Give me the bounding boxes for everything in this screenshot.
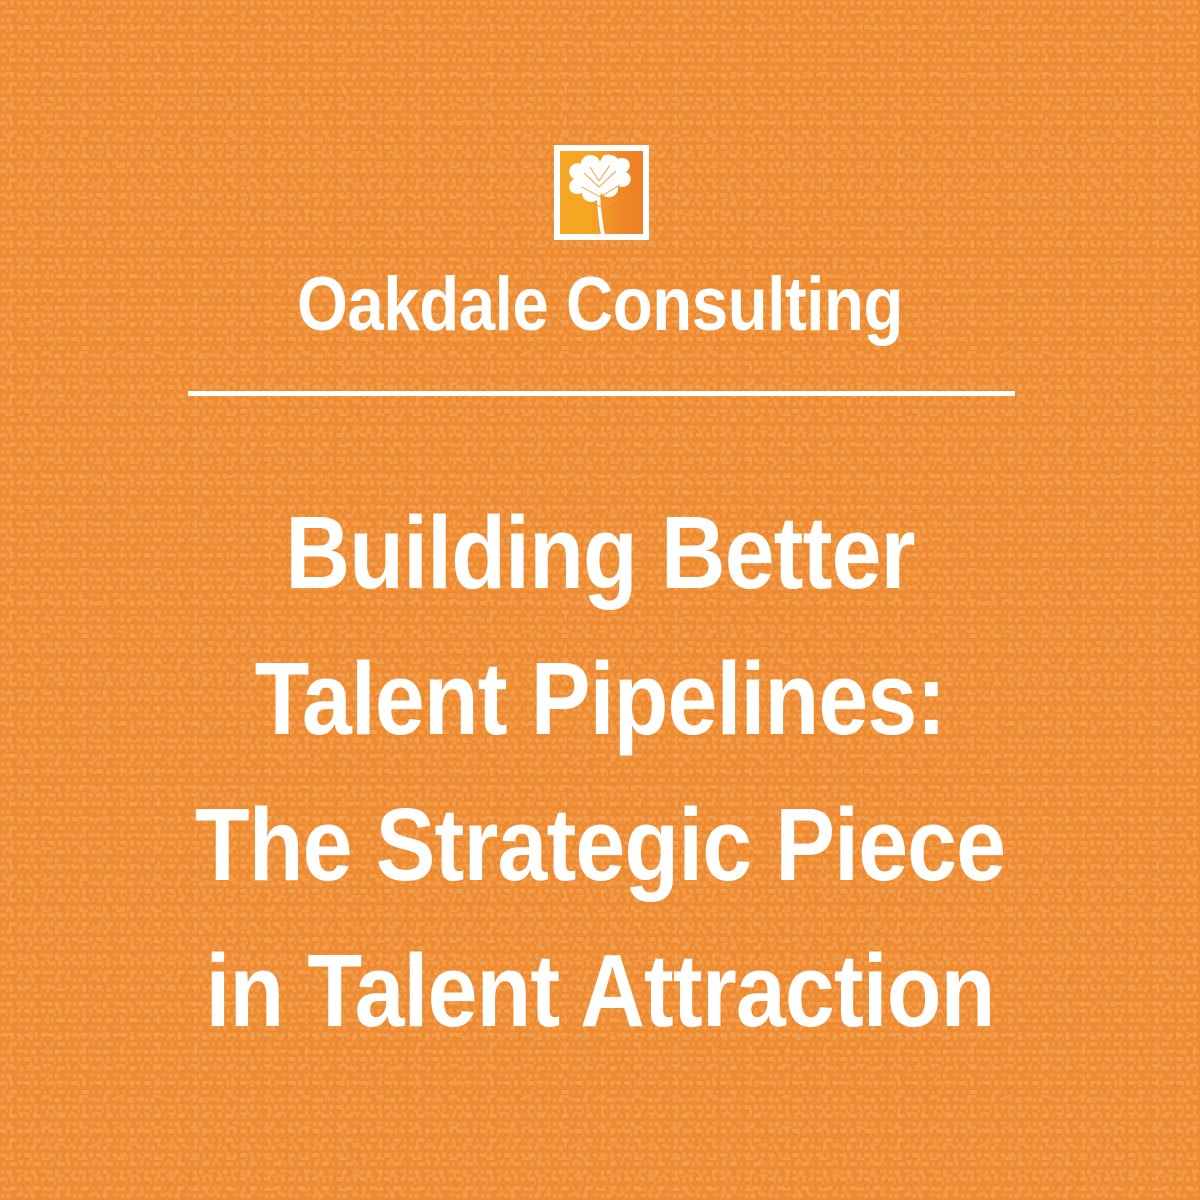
- headline-line-4: in Talent Attraction: [78, 918, 1122, 1064]
- brand-name: Oakdale Consulting: [84, 262, 1116, 348]
- divider-rule: [188, 391, 1015, 396]
- headline-line-2: Talent Pipelines:: [78, 626, 1122, 772]
- social-card: Oakdale Consulting Building Better Talen…: [0, 0, 1200, 1200]
- brand-logo: [554, 145, 649, 240]
- headline: Building Better Talent Pipelines: The St…: [0, 480, 1200, 1064]
- logo-border: [554, 145, 649, 240]
- headline-line-3: The Strategic Piece: [78, 772, 1122, 918]
- headline-line-1: Building Better: [78, 480, 1122, 626]
